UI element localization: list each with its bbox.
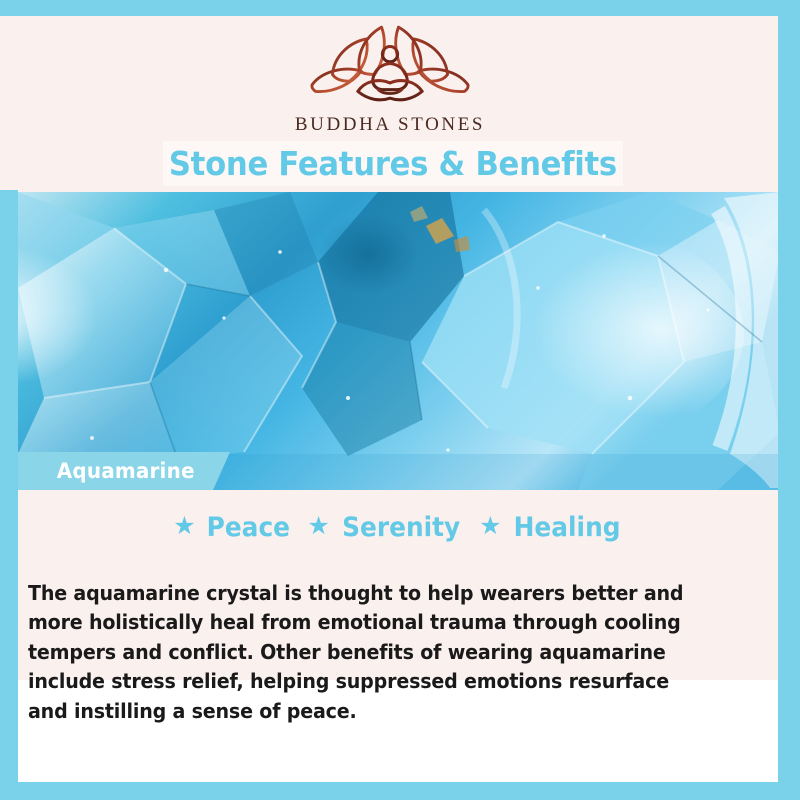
brand-block: BUDDHA STONES: [0, 22, 780, 136]
lotus-meditation-figure-icon: [295, 22, 485, 110]
brand-name: BUDDHA STONES: [0, 114, 780, 136]
keyword-serenity: ★ Serenity: [307, 512, 465, 543]
hero-image: [18, 192, 780, 490]
star-icon: ★: [479, 514, 501, 539]
description-text: The aquamarine crystal is thought to hel…: [28, 579, 701, 727]
star-icon: ★: [307, 514, 329, 539]
accent-bar-top: [0, 0, 800, 16]
accent-bar-left: [0, 190, 18, 800]
title-band: Stone Features & Benefits: [163, 141, 623, 186]
accent-bar-bottom: [0, 782, 800, 800]
poster-canvas: BUDDHA STONES Stone Features & Benefits: [0, 0, 800, 800]
stone-name-ribbon: Aquamarine: [18, 452, 230, 490]
star-icon: ★: [173, 514, 195, 539]
keyword-peace: ★ Peace: [173, 512, 293, 543]
accent-bar-right: [778, 0, 800, 800]
keyword-healing: ★ Healing: [479, 512, 625, 543]
keyword-label: Healing: [513, 512, 620, 543]
keyword-list: ★ Peace ★ Serenity ★ Healing: [18, 512, 780, 543]
keyword-label: Peace: [206, 512, 289, 543]
keyword-label: Serenity: [342, 512, 460, 543]
stone-name-label: Aquamarine: [23, 459, 195, 483]
page-title: Stone Features & Benefits: [169, 144, 617, 183]
